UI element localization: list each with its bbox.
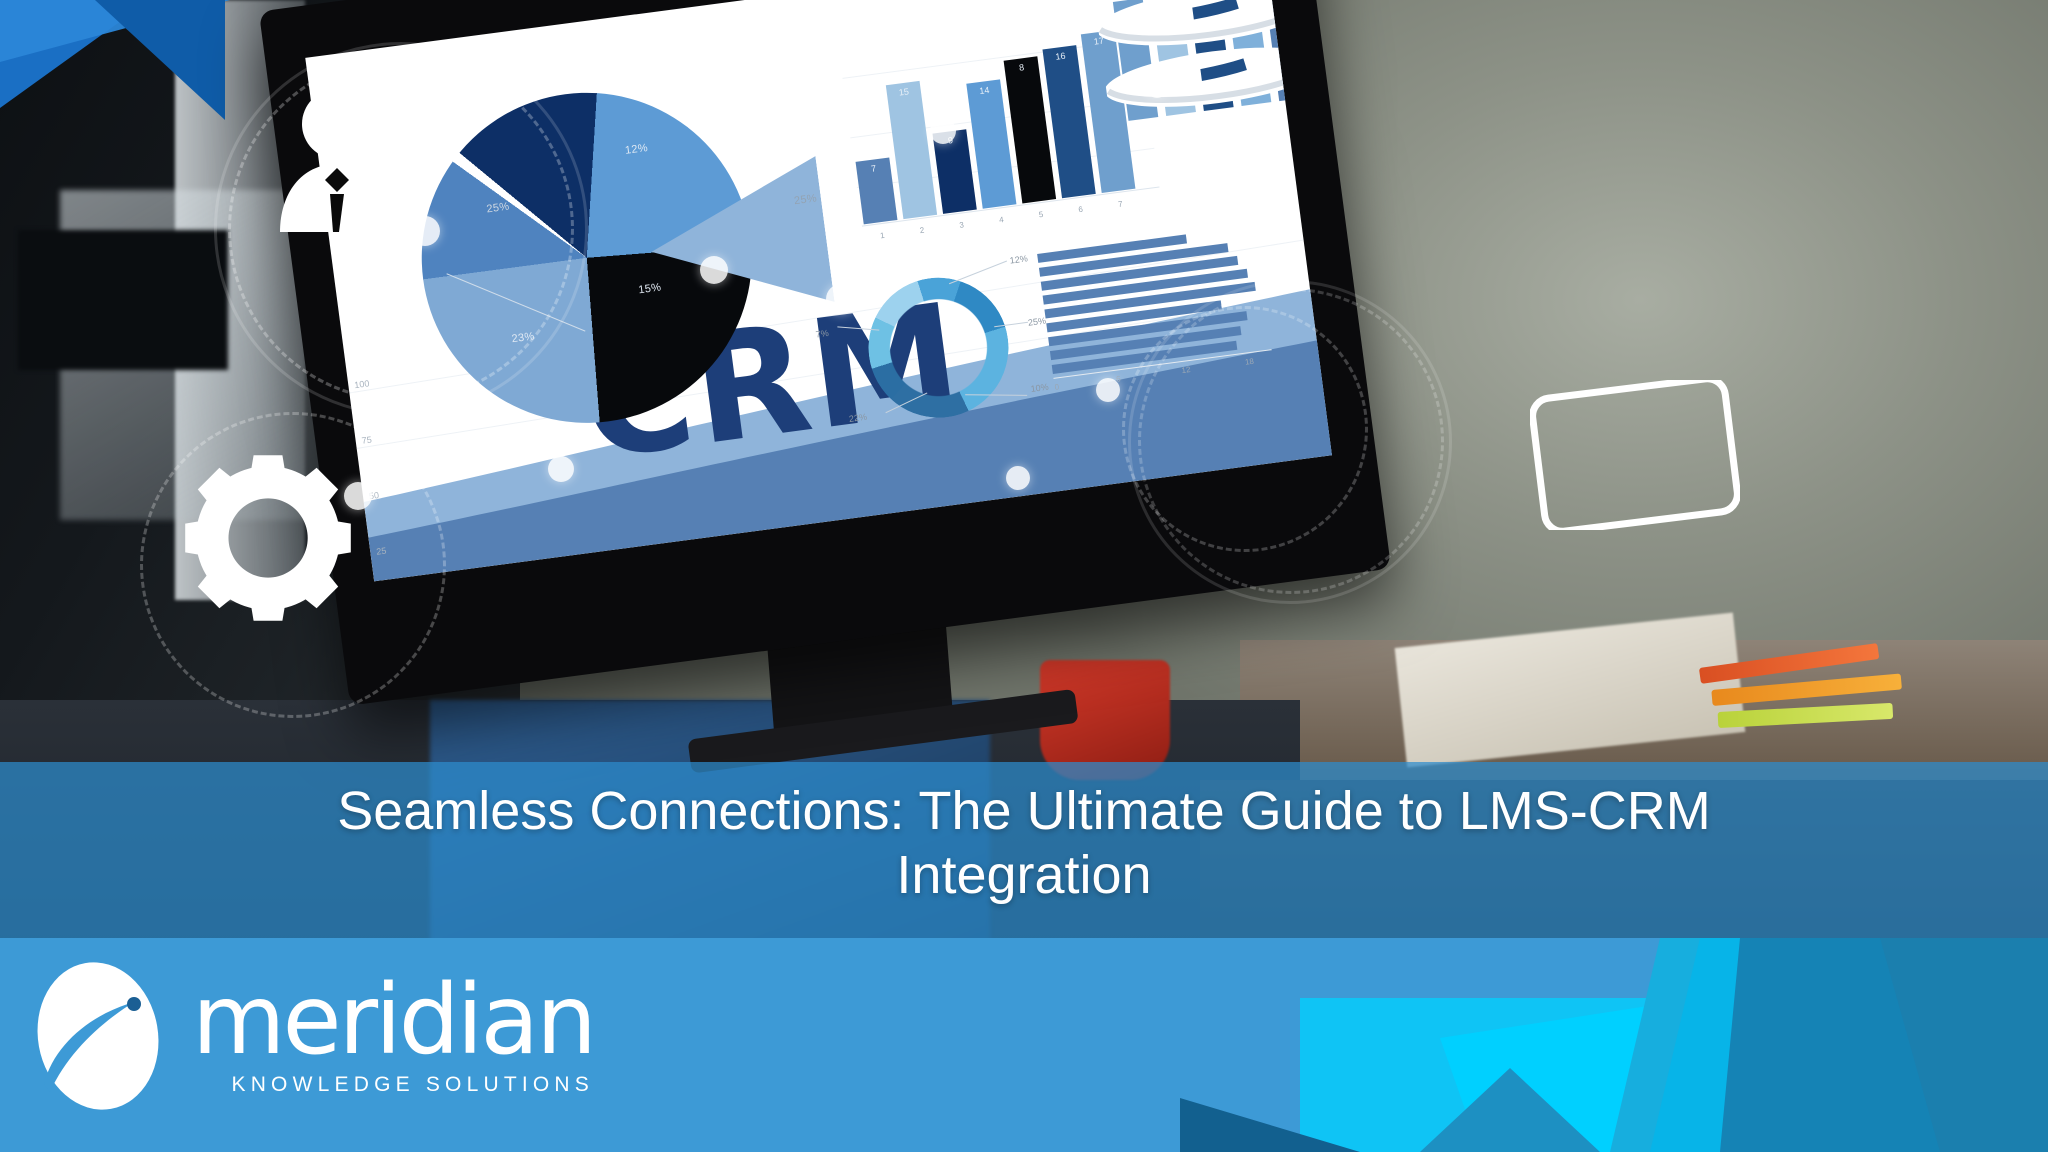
- area-y-tick-100: 100: [354, 378, 370, 390]
- chart-bars-horizontal: 0 6 12 18: [1037, 225, 1273, 393]
- bar-3: 9: [933, 129, 977, 214]
- meridian-mark-icon: [30, 956, 166, 1116]
- bar-tick-2: 2: [905, 224, 940, 237]
- bar-tick-7: 7: [1103, 198, 1138, 211]
- background-dark-box: [18, 230, 228, 370]
- page-title-line-1: Seamless Connections: The Ultimate Guide…: [0, 780, 2048, 844]
- area-y-tick-75: 75: [361, 434, 372, 445]
- hbar-tick-0: 0: [1054, 382, 1060, 392]
- page-root: 100 75 50 25 CRM 12% 15% 23% 25% 25%: [0, 0, 2048, 1152]
- bar-tick-4: 4: [984, 213, 1019, 226]
- hbar-tick-18: 18: [1244, 357, 1254, 367]
- hbar-tick-6: 6: [1116, 374, 1122, 384]
- bar-tick-6: 6: [1063, 203, 1098, 216]
- footer: meridian KNOWLEDGE SOLUTIONS: [0, 938, 2048, 1152]
- title-banner: Seamless Connections: The Ultimate Guide…: [0, 762, 2048, 938]
- bar-tick-3: 3: [944, 218, 979, 231]
- brand-tagline: KNOWLEDGE SOLUTIONS: [231, 1073, 594, 1097]
- donut-label-7: 7%: [815, 328, 829, 340]
- brand-logo: meridian KNOWLEDGE SOLUTIONS: [30, 956, 594, 1116]
- meridian-mark-svg: [30, 956, 166, 1116]
- bar-1: 7: [856, 157, 898, 224]
- hbar-tick-12: 12: [1181, 365, 1191, 375]
- area-y-tick-50: 50: [368, 490, 379, 501]
- bar-tick-5: 5: [1024, 208, 1059, 221]
- background-blue-shard-3: [95, 0, 225, 120]
- footer-polygons: [1180, 938, 2048, 1152]
- page-title: Seamless Connections: The Ultimate Guide…: [0, 780, 2048, 907]
- page-title-line-2: Integration: [0, 844, 2048, 908]
- brand-wordmark: meridian KNOWLEDGE SOLUTIONS: [192, 975, 594, 1096]
- area-y-tick-25: 25: [376, 546, 387, 557]
- bar-tick-1: 1: [865, 229, 900, 242]
- brand-name: meridian: [192, 975, 594, 1066]
